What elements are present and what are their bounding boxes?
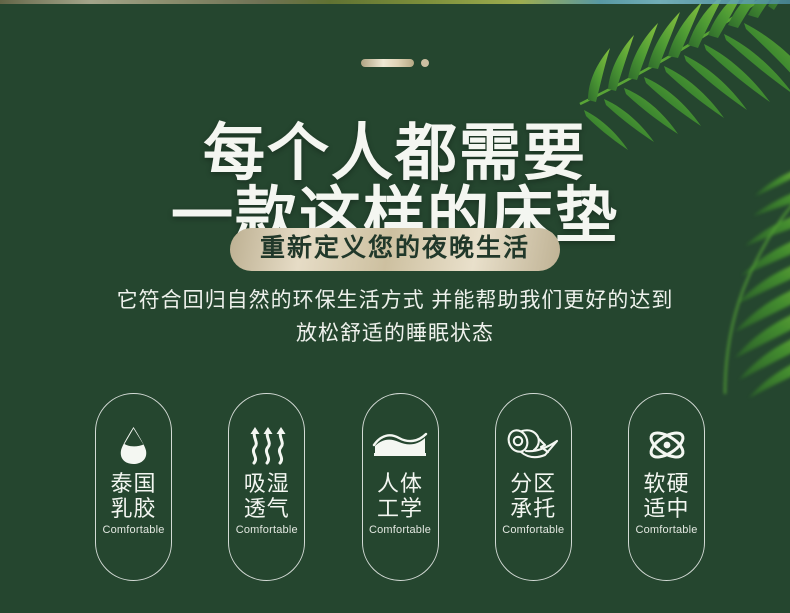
feature-title: 软硬 适中: [643, 472, 689, 521]
airflow-waves-icon: [246, 422, 288, 468]
atom-orbit-icon: [644, 422, 690, 468]
subtitle-pill-row: 重新定义您的夜晚生活: [0, 228, 790, 271]
feature-title: 吸湿 透气: [244, 472, 290, 521]
feature-title: 人体 工学: [377, 472, 423, 521]
feature-title-line-1: 人体: [377, 472, 423, 497]
feature-subtitle: Comfortable: [236, 524, 298, 536]
feature-badge-thai-latex: 泰国 乳胶 Comfortable: [95, 393, 172, 581]
feature-title-line-2: 工学: [377, 497, 423, 522]
feature-title-line-2: 透气: [244, 497, 290, 522]
feature-title-line-2: 承托: [510, 497, 556, 522]
feature-subtitle: Comfortable: [502, 524, 564, 536]
gold-dash-ornament: [0, 57, 790, 69]
gold-dot-icon: [421, 59, 429, 67]
gold-dash-bar-icon: [361, 59, 414, 67]
body-copy-line-2: 放松舒适的睡眠状态: [0, 318, 790, 351]
feature-badge-moisture-wicking: 吸湿 透气 Comfortable: [228, 393, 305, 581]
contoured-mattress-icon: [372, 422, 428, 468]
feature-badge-ergonomics: 人体 工学 Comfortable: [362, 393, 439, 581]
feature-title: 分区 承托: [510, 472, 556, 521]
feature-title: 泰国 乳胶: [110, 472, 156, 521]
feature-title-line-2: 乳胶: [110, 497, 156, 522]
feature-subtitle: Comfortable: [102, 524, 164, 536]
feature-badge-zoned-support: 分区 承托 Comfortable: [495, 393, 572, 581]
headline-line-1: 每个人都需要: [0, 122, 790, 186]
feature-title-line-1: 泰国: [110, 472, 156, 497]
feature-subtitle: Comfortable: [369, 524, 431, 536]
body-copy: 它符合回归自然的环保生活方式 并能帮助我们更好的达到 放松舒适的睡眠状态: [0, 285, 790, 350]
latex-droplet-icon: [116, 422, 152, 468]
body-copy-line-1: 它符合回归自然的环保生活方式 并能帮助我们更好的达到: [0, 285, 790, 318]
promo-banner: 每个人都需要 一款这样的床垫 重新定义您的夜晚生活 它符合回归自然的环保生活方式…: [0, 0, 790, 613]
feature-title-line-1: 吸湿: [244, 472, 290, 497]
feature-badge-medium-firmness: 软硬 适中 Comfortable: [628, 393, 705, 581]
rolled-mattress-icon: [505, 422, 561, 468]
feature-title-line-2: 适中: [643, 497, 689, 522]
feature-badge-row: 泰国 乳胶 Comfortable: [95, 393, 705, 581]
feature-title-line-1: 软硬: [643, 472, 689, 497]
feature-title-line-1: 分区: [510, 472, 556, 497]
image-edge-sliver: [0, 0, 790, 4]
feature-subtitle: Comfortable: [635, 524, 697, 536]
subtitle-pill: 重新定义您的夜晚生活: [230, 228, 560, 271]
